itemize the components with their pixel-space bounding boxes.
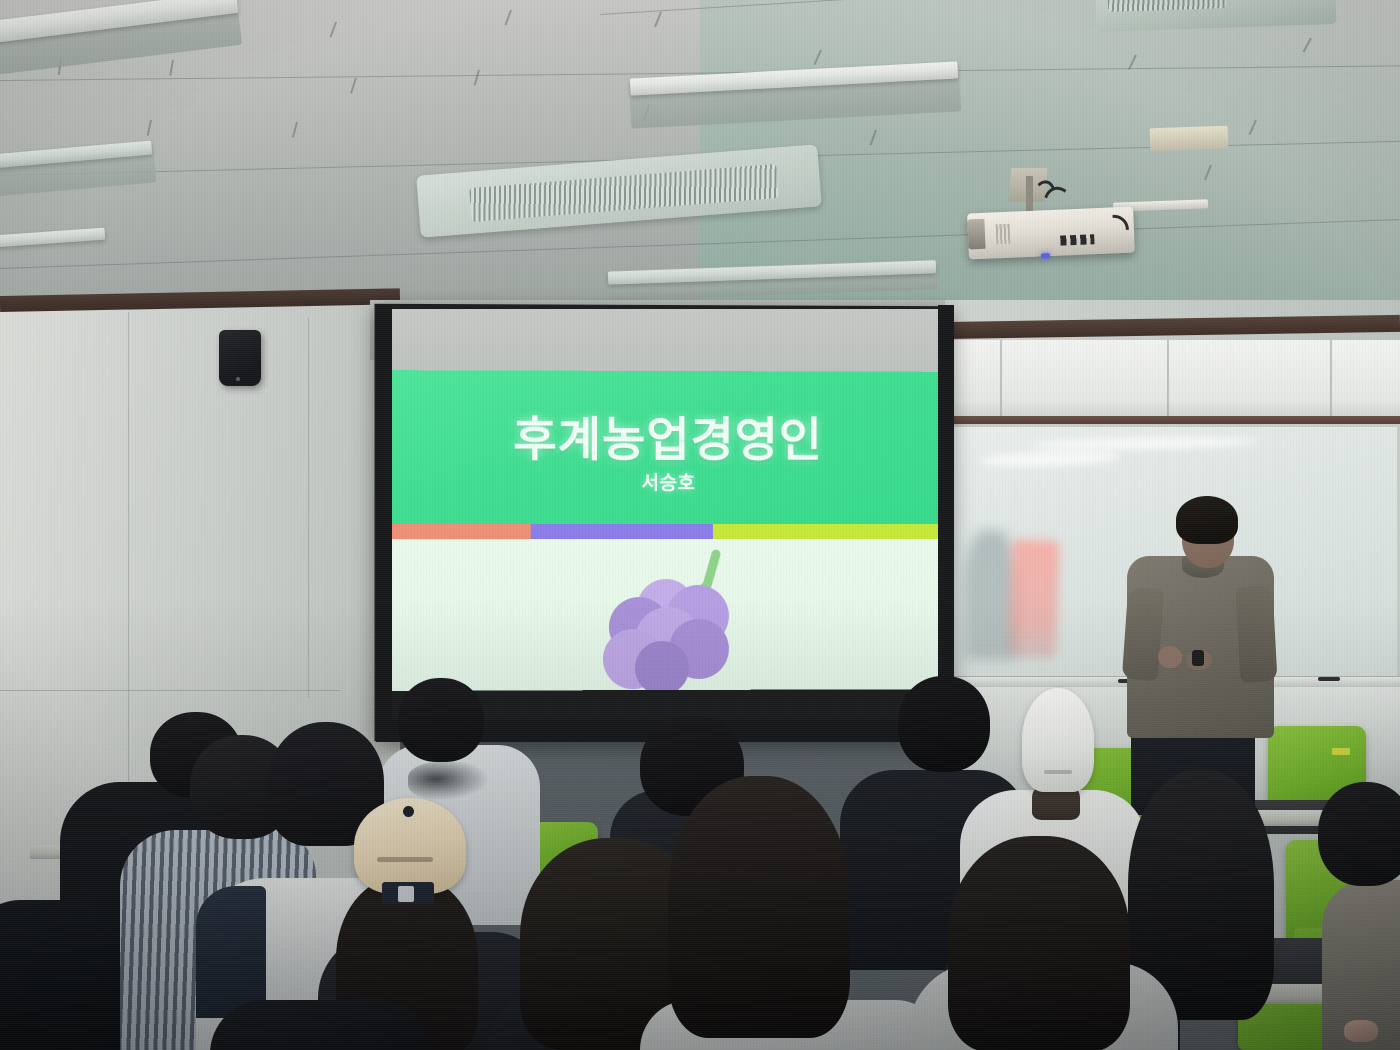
presenter-hand bbox=[1158, 646, 1182, 668]
audience-hair bbox=[948, 836, 1130, 1050]
cabinet-divider bbox=[1167, 340, 1169, 418]
colorbar-salmon-segment bbox=[392, 524, 531, 539]
colorbar-purple-segment bbox=[530, 524, 712, 539]
cap-seam bbox=[1044, 770, 1072, 774]
presenter-arm bbox=[1236, 585, 1278, 683]
wall-panel-seam bbox=[128, 312, 129, 832]
upper-cabinets[interactable] bbox=[952, 340, 1400, 420]
projector-lens bbox=[967, 219, 985, 250]
ceiling-utility-box bbox=[1150, 126, 1229, 152]
presenter-arm bbox=[1122, 587, 1164, 681]
grape-cluster-illustration bbox=[601, 549, 741, 685]
slide-subtitle: 서승호 bbox=[392, 468, 943, 496]
tshirt-graphic-print bbox=[408, 762, 488, 800]
screen-bezel-right bbox=[938, 305, 954, 740]
white-baseball-cap bbox=[1022, 688, 1094, 792]
desk-object[interactable] bbox=[1344, 1020, 1378, 1042]
cabinet-divider bbox=[1000, 340, 1002, 418]
classroom-scene: 후계농업경영인 서승호 bbox=[0, 0, 1400, 1050]
cap-strap-buckle bbox=[398, 886, 414, 902]
audience-torso bbox=[210, 1000, 430, 1050]
presenter-wristwatch bbox=[1192, 650, 1204, 666]
projector-vent bbox=[996, 224, 1011, 245]
chair-label bbox=[1332, 748, 1350, 755]
presentation-slide: 후계농업경영인 서승호 bbox=[392, 370, 943, 691]
audience-hair bbox=[668, 776, 850, 1038]
audience-head bbox=[398, 678, 484, 762]
whiteboard-reflection bbox=[1008, 539, 1060, 659]
whiteboard-marker[interactable] bbox=[1318, 677, 1340, 681]
presenter-hair bbox=[1176, 496, 1238, 544]
speaker-led bbox=[236, 377, 240, 381]
projection-screen-blank-area bbox=[380, 309, 950, 377]
audience-head bbox=[898, 676, 990, 772]
slide-title: 후계농업경영인 bbox=[392, 400, 943, 470]
wall-panel-seam bbox=[308, 318, 309, 698]
hoodie-shoulder-panel bbox=[196, 886, 266, 1018]
screen-bezel-left bbox=[376, 305, 392, 740]
wall-speaker bbox=[219, 330, 261, 386]
projector-status-led bbox=[1041, 253, 1050, 258]
cap-seam bbox=[377, 857, 433, 862]
cap-button bbox=[403, 806, 414, 817]
slide-color-bar bbox=[392, 524, 943, 539]
grape-berry bbox=[635, 641, 689, 691]
cabinet-divider bbox=[1330, 340, 1332, 418]
slide-body bbox=[392, 539, 943, 691]
audience-torso bbox=[0, 900, 120, 1050]
wall-panel-seam bbox=[0, 690, 340, 691]
audience-head bbox=[1318, 782, 1400, 886]
colorbar-lime-segment bbox=[713, 524, 943, 539]
